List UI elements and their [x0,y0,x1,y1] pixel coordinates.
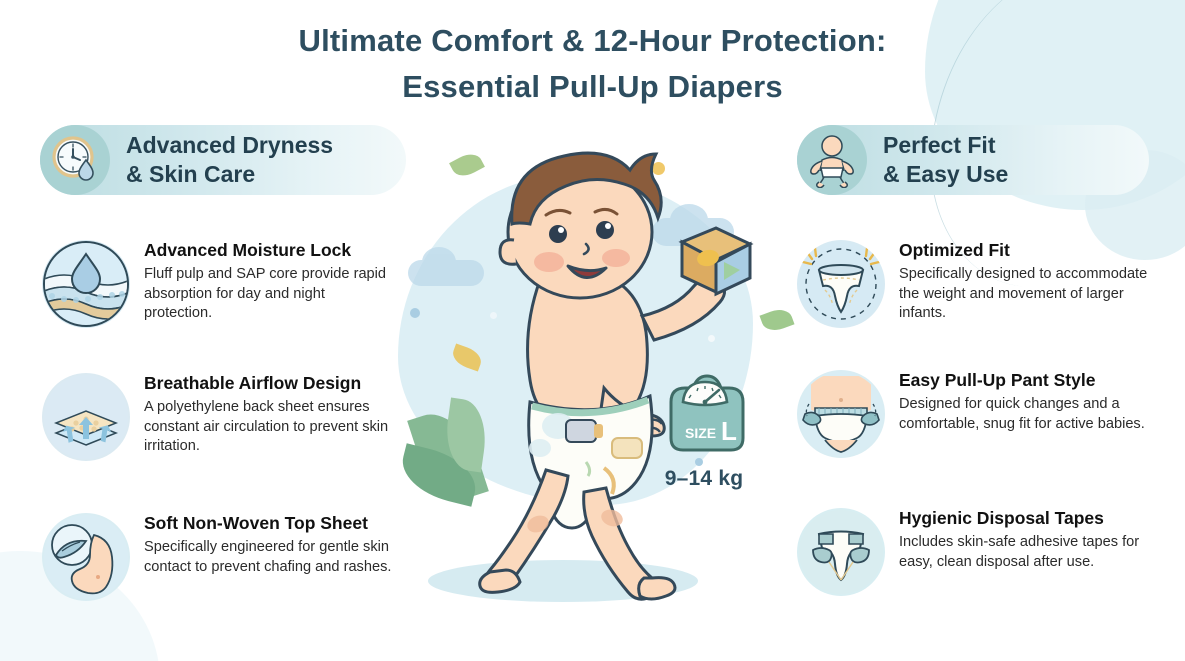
baby-icon [797,125,867,195]
feature-text-soft-top-sheet: Soft Non-Woven Top Sheet Specifically en… [144,513,394,577]
feature-title: Optimized Fit [899,240,1149,261]
feature-title: Hygienic Disposal Tapes [899,508,1149,529]
page-title: Ultimate Comfort & 12-Hour Protection: E… [0,18,1185,110]
feature-description: A polyethylene back sheet ensures consta… [144,398,394,457]
left-section-header: Advanced Dryness & Skin Care [40,125,406,195]
left-header-line2: & Skin Care [126,160,333,189]
feature-item-easy-pull-up: Easy Pull-Up Pant Style Designed for qui… [797,370,1149,458]
breathable-airflow-icon [42,373,130,461]
feature-title: Breathable Airflow Design [144,373,394,394]
page-title-line1: Ultimate Comfort & 12-Hour Protection: [298,23,886,58]
feature-title: Easy Pull-Up Pant Style [899,370,1149,391]
left-section-header-text: Advanced Dryness & Skin Care [126,131,333,190]
feature-description: Specifically engineered for gentle skin … [144,538,394,577]
pull-up-pants-sparkle-icon [797,240,885,328]
moisture-lock-icon [42,240,130,328]
feature-title: Soft Non-Woven Top Sheet [144,513,394,534]
right-section-header-text: Perfect Fit & Easy Use [883,131,1008,190]
feature-text-disposal-tapes: Hygienic Disposal Tapes Includes skin-sa… [899,508,1149,572]
size-value: L [721,416,737,446]
feature-item-breathable-airflow: Breathable Airflow Design A polyethylene… [42,373,394,461]
right-header-line1: Perfect Fit [883,131,1008,160]
page-title-line2: Essential Pull-Up Diapers [0,64,1185,110]
feather-foot-icon [42,513,130,601]
feature-text-easy-pull-up: Easy Pull-Up Pant Style Designed for qui… [899,370,1149,434]
feature-text-moisture-lock: Advanced Moisture Lock Fluff pulp and SA… [144,240,394,324]
diaper-tapes-icon [797,508,885,596]
size-label: SIZE [685,425,716,441]
feature-item-soft-top-sheet: Soft Non-Woven Top Sheet Specifically en… [42,513,394,601]
feature-description: Includes skin-safe adhesive tapes for ea… [899,533,1149,572]
feature-description: Specifically designed to accommodate the… [899,265,1149,324]
feature-item-disposal-tapes: Hygienic Disposal Tapes Includes skin-sa… [797,508,1149,596]
clock-water-drop-icon [40,125,110,195]
feature-title: Advanced Moisture Lock [144,240,394,261]
weighing-scale-icon: SIZE L [657,372,751,460]
weight-range-label: 9–14 kg [648,467,760,491]
feature-text-breathable-airflow: Breathable Airflow Design A polyethylene… [144,373,394,457]
left-header-line1: Advanced Dryness [126,131,333,160]
feature-text-optimized-fit: Optimized Fit Specifically designed to a… [899,240,1149,324]
feature-description: Designed for quick changes and a comfort… [899,395,1149,434]
pull-up-hands-icon [797,370,885,458]
feature-description: Fluff pulp and SAP core provide rapid ab… [144,265,394,324]
feature-item-optimized-fit: Optimized Fit Specifically designed to a… [797,240,1149,328]
right-header-line2: & Easy Use [883,160,1008,189]
feature-item-moisture-lock: Advanced Moisture Lock Fluff pulp and SA… [42,240,394,328]
right-section-header: Perfect Fit & Easy Use [797,125,1149,195]
weight-badge: SIZE L 9–14 kg [648,372,760,490]
infographic-canvas: Ultimate Comfort & 12-Hour Protection: E… [0,0,1185,661]
